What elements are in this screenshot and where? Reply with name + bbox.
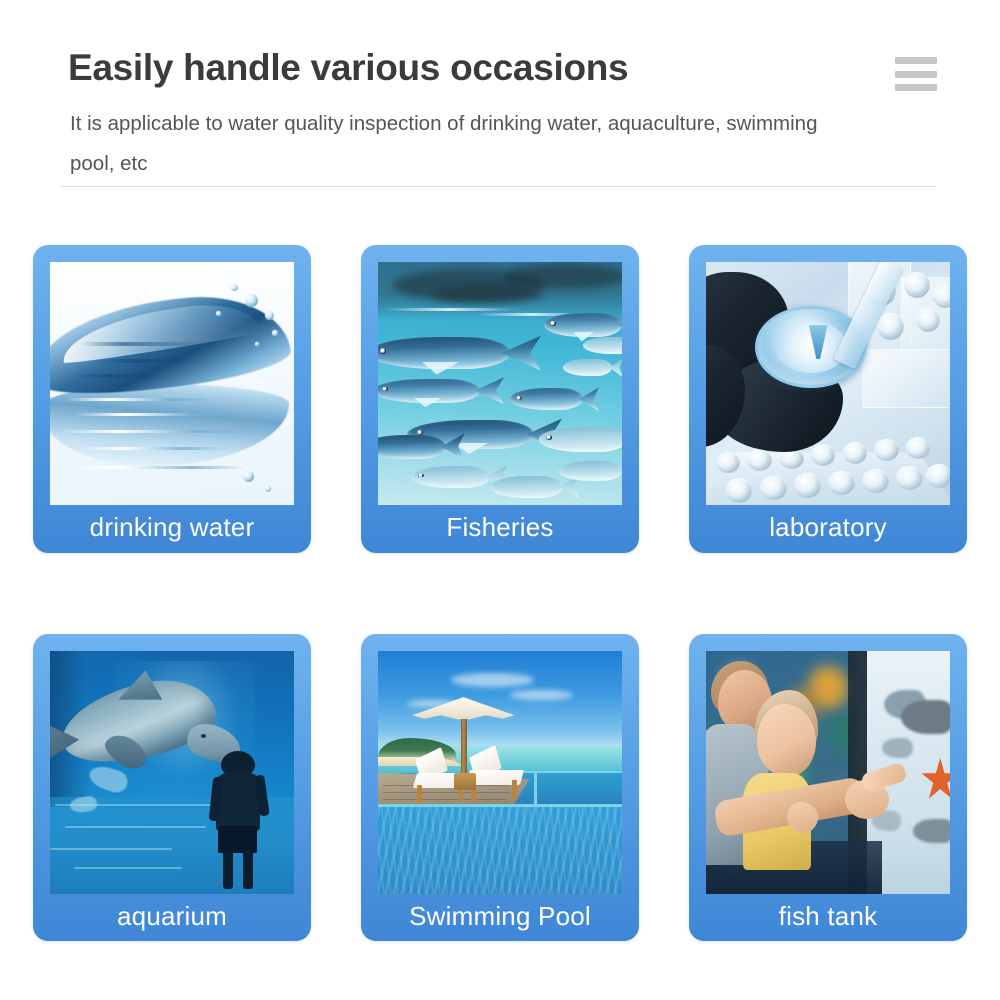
card-label-fisheries: Fisheries (361, 505, 639, 553)
hamburger-bar-top (895, 57, 937, 64)
card-label-aquarium: aquarium (33, 894, 311, 941)
card-image-drinking-water (50, 262, 294, 505)
card-label-fish-tank: fish tank (689, 894, 967, 941)
page-header: Easily handle various occasions It is ap… (0, 0, 1000, 200)
card-image-laboratory (706, 262, 950, 505)
hamburger-bar-middle (895, 71, 937, 78)
card-label-laboratory: laboratory (689, 505, 967, 553)
occasion-card-drinking-water[interactable]: drinking water (33, 245, 311, 553)
hamburger-menu-icon[interactable] (895, 57, 937, 91)
occasion-card-fisheries[interactable]: Fisheries (361, 245, 639, 553)
page-title: Easily handle various occasions (68, 46, 628, 90)
card-label-swimming-pool: Swimming Pool (361, 894, 639, 941)
occasion-card-swimming-pool[interactable]: Swimming Pool (361, 634, 639, 941)
page-subtitle: It is applicable to water quality inspec… (70, 104, 830, 184)
card-image-fish-tank (706, 651, 950, 894)
card-label-drinking-water: drinking water (33, 505, 311, 553)
occasion-card-grid: drinking water (33, 245, 967, 941)
occasion-card-aquarium[interactable]: aquarium (33, 634, 311, 941)
card-image-fisheries (378, 262, 622, 505)
occasion-card-fish-tank[interactable]: fish tank (689, 634, 967, 941)
card-image-swimming-pool (378, 651, 622, 894)
occasions-page: Easily handle various occasions It is ap… (0, 0, 1000, 1000)
card-image-aquarium (50, 651, 294, 894)
header-divider (60, 186, 936, 187)
occasion-card-laboratory[interactable]: laboratory (689, 245, 967, 553)
hamburger-bar-bottom (895, 84, 937, 91)
